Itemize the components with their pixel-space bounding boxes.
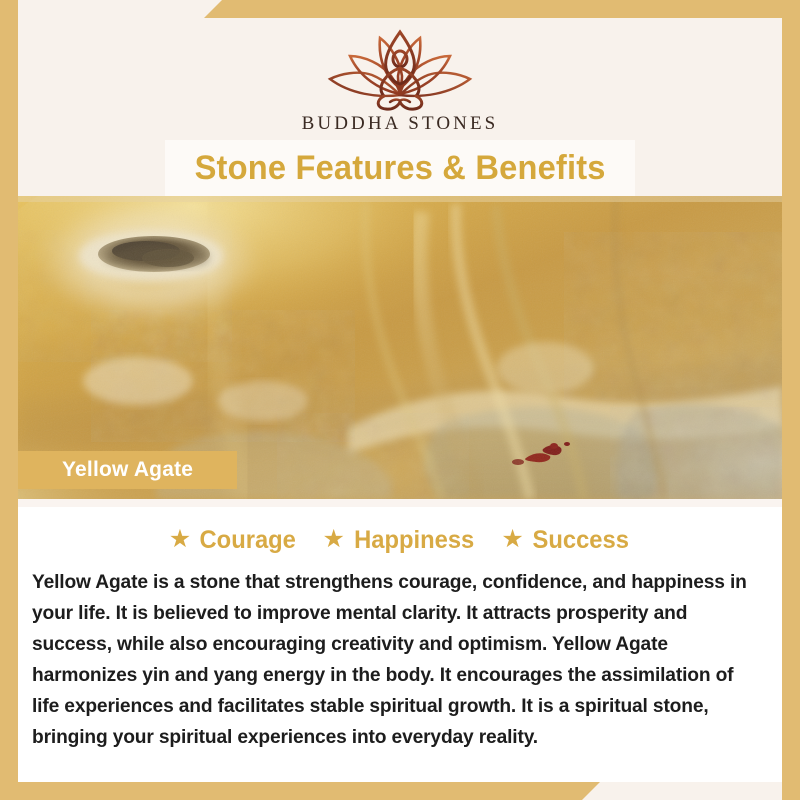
benefit-label: Happiness	[354, 526, 474, 555]
benefit-item: ★ Success	[501, 526, 631, 555]
stone-name-label: Yellow Agate	[18, 451, 237, 489]
title-band: Stone Features & Benefits	[18, 140, 782, 196]
stone-name-text: Yellow Agate	[62, 458, 193, 482]
stone-photo: Yellow Agate	[18, 196, 782, 499]
brand-header: BUDDHA STONES	[18, 18, 782, 140]
star-icon: ★	[501, 527, 523, 552]
lotus-meditation-icon	[324, 26, 476, 112]
benefit-label: Courage	[200, 526, 296, 555]
gold-frame-left	[0, 0, 18, 800]
star-icon: ★	[169, 527, 191, 552]
benefit-item: ★ Courage	[169, 526, 299, 555]
benefit-label: Success	[532, 526, 628, 555]
stone-description: Yellow Agate is a stone that strengthens…	[18, 561, 782, 753]
page-title: Stone Features & Benefits	[194, 149, 605, 188]
brand-name: BUDDHA STONES	[302, 113, 499, 135]
title-plate: Stone Features & Benefits	[165, 140, 635, 196]
gold-frame-bottom	[0, 782, 800, 800]
benefit-item: ★ Happiness	[323, 526, 478, 555]
poster-inner: BUDDHA STONES Stone Features & Benefits	[18, 18, 782, 782]
gold-frame-top	[0, 0, 800, 18]
content-section: ★ Courage ★ Happiness ★ Success Yellow A…	[18, 499, 782, 782]
benefits-row: ★ Courage ★ Happiness ★ Success	[18, 507, 782, 561]
poster-root: BUDDHA STONES Stone Features & Benefits	[0, 0, 800, 800]
content-fade	[18, 499, 782, 507]
star-icon: ★	[323, 527, 345, 552]
gold-frame-right	[782, 0, 800, 800]
